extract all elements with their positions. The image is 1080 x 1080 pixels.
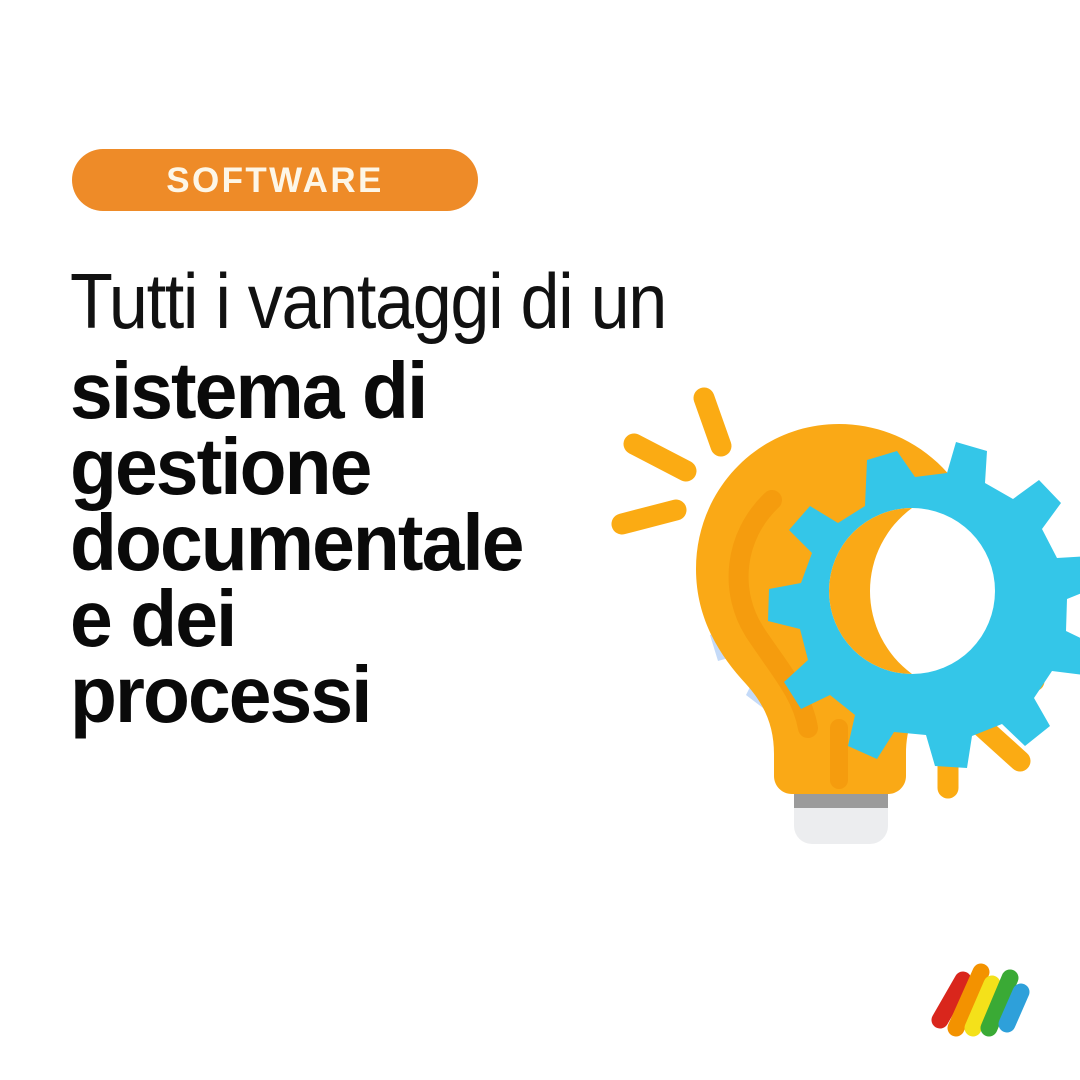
headline-bold-line-4: e dei [70,581,684,657]
ray-left-horizontal [622,510,676,524]
headline-bold-line-1: sistema di [70,353,684,429]
category-badge-label: SOFTWARE [166,163,384,198]
category-badge[interactable]: SOFTWARE [72,149,478,211]
social-card-canvas: SOFTWARE Tutti i vantaggi di un sistema … [0,0,1080,1080]
headline-bold-line-2: gestione [70,429,684,505]
brand-logo[interactable] [928,950,1032,1046]
headline-bold-line-5: processi [70,657,684,733]
headline-bold-line-3: documentale [70,505,684,581]
ray-top-left-vertical [704,398,721,446]
ray-left-diagonal [634,444,686,471]
lightbulb-with-gears-icon [596,376,1080,868]
headline-light-line: Tutti i vantaggi di un [70,263,646,339]
